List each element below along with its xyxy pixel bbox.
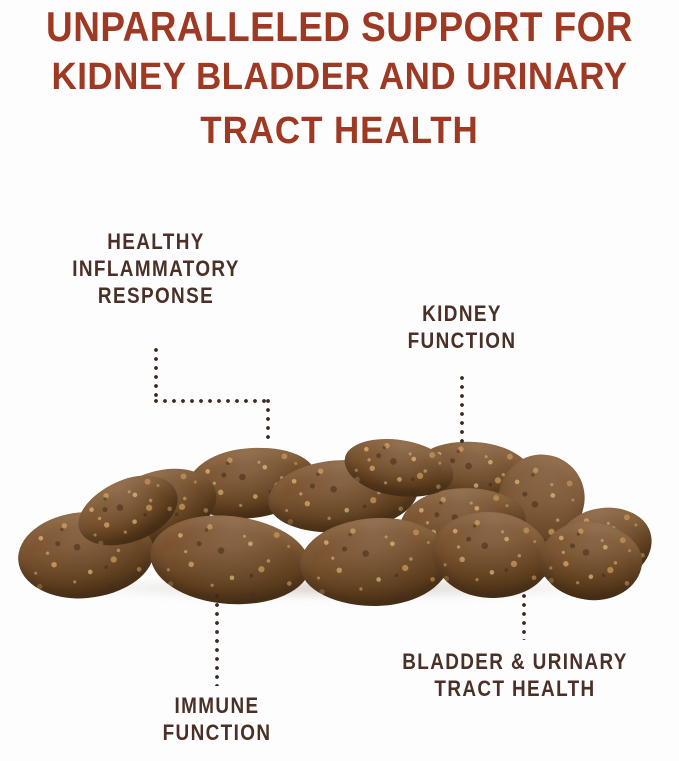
infographic-canvas: UNPARALLELED SUPPORT FOR KIDNEY BLADDER … (0, 0, 679, 761)
dotted-connector-inflammatory-vertical-top (154, 348, 158, 402)
callout-kidney-line-2: FUNCTION (385, 327, 540, 354)
headline-line-3: TRACT HEALTH (27, 112, 652, 150)
headline-line-1: UNPARALLELED SUPPORT FOR (41, 6, 639, 48)
dotted-connector-kidney (460, 376, 464, 444)
kibble-pile-image (0, 430, 679, 610)
callout-immune-line-1: IMMUNE (131, 692, 303, 719)
callout-bladder-line-1: BLADDER & URINARY (386, 648, 644, 675)
callout-label-inflammatory: HEALTHY INFLAMMATORY RESPONSE (36, 228, 277, 309)
dotted-connector-inflammatory-vertical-bottom (266, 399, 270, 443)
callout-inflammatory-line-3: RESPONSE (36, 282, 277, 309)
dotted-connector-bladder (522, 594, 526, 640)
callout-label-kidney: KIDNEY FUNCTION (385, 300, 540, 354)
callout-label-bladder: BLADDER & URINARY TRACT HEALTH (386, 648, 644, 702)
callout-immune-line-2: FUNCTION (131, 719, 303, 746)
callout-bladder-line-2: TRACT HEALTH (386, 675, 644, 702)
headline-line-2: KIDNEY BLADDER AND URINARY (27, 58, 652, 96)
dotted-connector-immune (215, 594, 219, 686)
callout-kidney-line-1: KIDNEY (385, 300, 540, 327)
dotted-connector-inflammatory-horizontal (154, 399, 270, 403)
callout-inflammatory-line-2: INFLAMMATORY (36, 255, 277, 282)
callout-inflammatory-line-1: HEALTHY (36, 228, 277, 255)
callout-label-immune: IMMUNE FUNCTION (131, 692, 303, 746)
